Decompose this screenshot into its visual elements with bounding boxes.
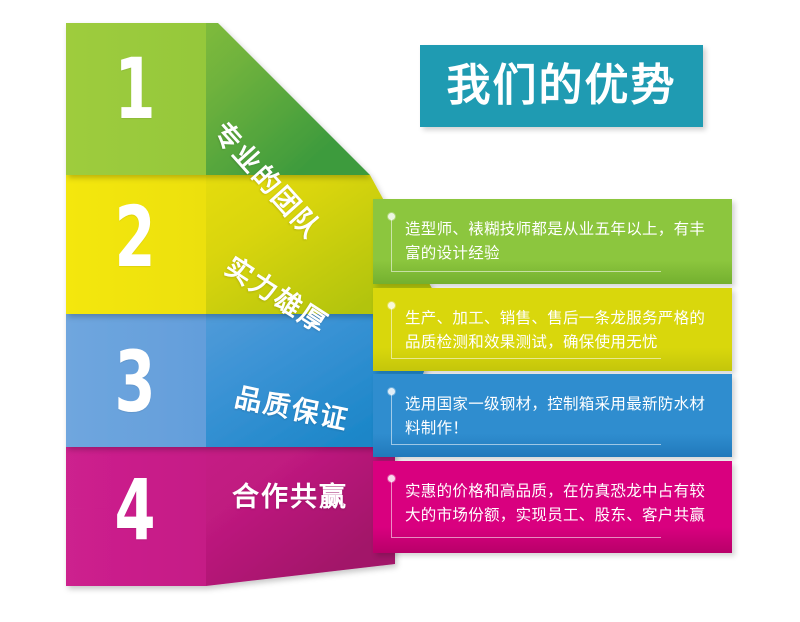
horizontal-rule [391, 444, 661, 445]
vertical-rule [391, 308, 392, 358]
description-text-4: 实惠的价格和高品质，在仿真恐龙中占有较大的市场份额，实现员工、股东、客户共赢 [405, 479, 717, 527]
vertical-rule [391, 219, 392, 271]
horizontal-rule [391, 358, 661, 359]
description-card-2[interactable]: 生产、加工、销售、售后一条龙服务严格的品质检测和效果测试，确保使用无忧 [373, 288, 732, 371]
description-card-3[interactable]: 选用国家一级钢材，控制箱采用最新防水材料制作！ [373, 374, 732, 457]
description-text-3: 选用国家一级钢材，控制箱采用最新防水材料制作！ [405, 392, 717, 440]
vertical-rule [391, 481, 392, 537]
description-text-1: 造型师、裱糊技师都是从业五年以上，有丰富的设计经验 [405, 217, 717, 265]
step-number-1: 1 [100, 47, 170, 131]
vertical-rule [391, 394, 392, 444]
horizontal-rule [391, 537, 661, 538]
page-title: 我们的优势 [420, 45, 703, 127]
step-number-3: 3 [100, 340, 170, 424]
description-text-2: 生产、加工、销售、售后一条龙服务严格的品质检测和效果测试，确保使用无忧 [405, 306, 717, 354]
description-card-1[interactable]: 造型师、裱糊技师都是从业五年以上，有丰富的设计经验 [373, 199, 732, 284]
description-card-4[interactable]: 实惠的价格和高品质，在仿真恐龙中占有较大的市场份额，实现员工、股东、客户共赢 [373, 461, 732, 553]
infographic-canvas: 1 2 3 4 专业的团队 实力雄厚 品质保证 合作共赢 我们的优势 造型师、裱… [0, 0, 800, 622]
step-number-2: 2 [100, 195, 170, 279]
step-number-4: 4 [100, 468, 170, 552]
page-title-text: 我们的优势 [447, 64, 677, 108]
horizontal-rule [391, 271, 661, 272]
ribbon-caption-4: 合作共赢 [232, 484, 348, 511]
